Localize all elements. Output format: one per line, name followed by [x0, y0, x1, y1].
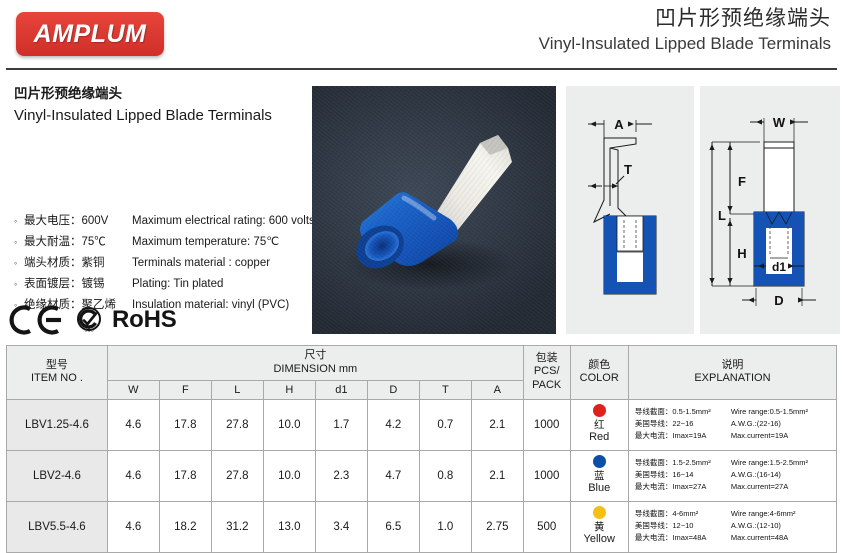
th-explanation: 说明 EXPLANATION — [628, 346, 836, 400]
th-pack: 包装 PCS/ PACK — [523, 346, 570, 400]
technical-drawing-front-view: F L H W d1 — [700, 86, 840, 334]
page-title-cn: 凹片形预绝缘端头 — [539, 6, 831, 32]
product-name-en: Vinyl-Insulated Lipped Blade Terminals — [14, 106, 304, 126]
product-name-block: 凹片形预绝缘端头 Vinyl-Insulated Lipped Blade Te… — [14, 84, 304, 127]
cell-item-no: LBV1.25-4.6 — [7, 399, 108, 450]
th-item-no-cn: 型号 — [9, 359, 105, 373]
cell-color: 黄 Yellow — [570, 501, 628, 552]
spec-label-cn: 最大耐温：75℃ — [24, 233, 132, 249]
cell-color: 红 Red — [570, 399, 628, 450]
cell-explanation: 导线截面：1.5-2.5mm² Wire range:1.5-2.5mm² 美国… — [628, 450, 836, 501]
spec-item-plating: ◦ 表面镀层：镀锡 Plating: Tin plated — [14, 275, 314, 291]
expl-awg-en: A.W.G.:(22-16) — [731, 419, 830, 430]
expl-max-current-cn: 最大电流：Imax=19A — [635, 431, 731, 442]
th-explanation-cn: 说明 — [631, 359, 834, 373]
photo-texture — [312, 86, 556, 334]
header-title-group: 凹片形预绝缘端头 Vinyl-Insulated Lipped Blade Te… — [539, 6, 831, 56]
label-A: A — [614, 117, 624, 132]
th-dimension-group: 尺寸 DIMENSION mm — [107, 346, 523, 381]
cell-d: 4.2 — [367, 399, 419, 450]
expl-wire-range-en: Wire range:1.5-2.5mm² — [731, 458, 830, 469]
front-view-diagram: F L H W d1 — [700, 86, 840, 334]
expl-max-current-en: Max.current=27A — [731, 482, 830, 493]
cell-item-no: LBV2-4.6 — [7, 450, 108, 501]
cell-d: 4.7 — [367, 450, 419, 501]
cell-a: 2.1 — [471, 450, 523, 501]
label-F: F — [738, 174, 746, 189]
table-body: LBV1.25-4.6 4.6 17.8 27.8 10.0 1.7 4.2 0… — [7, 399, 837, 552]
product-name-cn: 凹片形预绝缘端头 — [14, 84, 304, 104]
header-divider — [6, 68, 837, 70]
label-H: H — [737, 246, 746, 261]
color-swatch-icon — [593, 455, 606, 468]
expl-awg-cn: 美国导线：12~10 — [635, 521, 731, 532]
table-row: LBV1.25-4.6 4.6 17.8 27.8 10.0 1.7 4.2 0… — [7, 399, 837, 450]
spec-item-material: ◦ 端头材质：紫铜 Terminals material : copper — [14, 254, 314, 270]
th-item-no: 型号 ITEM NO . — [7, 346, 108, 400]
specification-table-wrapper: 型号 ITEM NO . 尺寸 DIMENSION mm 包装 PCS/ PAC… — [6, 345, 837, 553]
expl-max-current-en: Max.current=48A — [731, 533, 830, 544]
cell-f: 17.8 — [159, 399, 211, 450]
color-name-cn: 黄 — [572, 521, 627, 534]
cell-f: 17.8 — [159, 450, 211, 501]
table-row: LBV2-4.6 4.6 17.8 27.8 10.0 2.3 4.7 0.8 … — [7, 450, 837, 501]
cell-f: 18.2 — [159, 501, 211, 552]
cell-t: 0.8 — [419, 450, 471, 501]
color-swatch-icon — [593, 404, 606, 417]
th-dim-w: W — [107, 380, 159, 399]
cell-w: 4.6 — [107, 450, 159, 501]
th-dimension-cn: 尺寸 — [110, 349, 521, 363]
page-title-en: Vinyl-Insulated Lipped Blade Terminals — [539, 33, 831, 56]
table-head: 型号 ITEM NO . 尺寸 DIMENSION mm 包装 PCS/ PAC… — [7, 346, 837, 400]
th-color-en: COLOR — [573, 372, 626, 386]
th-dim-t: T — [419, 380, 471, 399]
label-D: D — [774, 293, 783, 308]
bullet-icon: ◦ — [14, 259, 24, 268]
color-name-cn: 蓝 — [572, 470, 627, 483]
rohs-label: RoHS — [112, 306, 177, 334]
ce-mark-icon — [8, 305, 66, 335]
th-dim-f: F — [159, 380, 211, 399]
cell-a: 2.1 — [471, 399, 523, 450]
specification-table: 型号 ITEM NO . 尺寸 DIMENSION mm 包装 PCS/ PAC… — [6, 345, 837, 553]
bullet-icon: ◦ — [14, 217, 24, 226]
product-photo — [312, 86, 556, 334]
th-pack-cn: 包装 — [526, 352, 568, 366]
explanation-grid: 导线截面：1.5-2.5mm² Wire range:1.5-2.5mm² 美国… — [635, 458, 830, 493]
cell-color: 蓝 Blue — [570, 450, 628, 501]
expl-wire-range-cn: 导线截面：1.5-2.5mm² — [635, 458, 731, 469]
table-header-row-1: 型号 ITEM NO . 尺寸 DIMENSION mm 包装 PCS/ PAC… — [7, 346, 837, 381]
color-name-en: Blue — [572, 482, 627, 496]
th-color-cn: 颜色 — [573, 359, 626, 373]
explanation-grid: 导线截面：4-6mm² Wire range:4-6mm² 美国导线：12~10… — [635, 509, 830, 544]
brand-logo: AMPLUM — [16, 12, 164, 56]
cell-h: 13.0 — [263, 501, 315, 552]
expl-awg-cn: 美国导线：16~14 — [635, 470, 731, 481]
cell-l: 27.8 — [211, 399, 263, 450]
expl-wire-range-cn: 导线截面：4-6mm² — [635, 509, 731, 520]
cell-l: 27.8 — [211, 450, 263, 501]
color-name-cn: 红 — [572, 419, 627, 432]
cell-h: 10.0 — [263, 450, 315, 501]
th-item-no-en: ITEM NO . — [9, 372, 105, 386]
sgs-logo-icon: SGS — [75, 306, 103, 334]
bullet-icon: ◦ — [14, 280, 24, 289]
spec-label-en: Terminals material : copper — [132, 257, 270, 269]
cell-a: 2.75 — [471, 501, 523, 552]
cell-pack: 1000 — [523, 450, 570, 501]
expl-max-current-cn: 最大电流：Imax=27A — [635, 482, 731, 493]
th-pack-en2: PACK — [526, 379, 568, 393]
expl-wire-range-en: Wire range:4-6mm² — [731, 509, 830, 520]
spec-label-cn: 表面镀层：镀锡 — [24, 275, 132, 291]
page-header: AMPLUM 凹片形预绝缘端头 Vinyl-Insulated Lipped B… — [0, 0, 843, 70]
label-d1: d1 — [772, 260, 786, 274]
expl-awg-en: A.W.G.:(12-10) — [731, 521, 830, 532]
cell-pack: 500 — [523, 501, 570, 552]
brand-logo-text: AMPLUM — [34, 20, 147, 49]
explanation-grid: 导线截面：0.5-1.5mm² Wire range:0.5-1.5mm² 美国… — [635, 407, 830, 442]
cell-d1: 2.3 — [315, 450, 367, 501]
spec-label-cn: 最大电压：600V — [24, 212, 132, 228]
th-dim-h: H — [263, 380, 315, 399]
expl-max-current-cn: 最大电流：Imax=48A — [635, 533, 731, 544]
color-swatch-icon — [593, 506, 606, 519]
th-dim-d: D — [367, 380, 419, 399]
th-dim-a: A — [471, 380, 523, 399]
cell-w: 4.6 — [107, 501, 159, 552]
cell-l: 31.2 — [211, 501, 263, 552]
cell-t: 0.7 — [419, 399, 471, 450]
cell-t: 1.0 — [419, 501, 471, 552]
cell-d1: 3.4 — [315, 501, 367, 552]
cell-h: 10.0 — [263, 399, 315, 450]
color-name-en: Red — [572, 431, 627, 445]
table-row: LBV5.5-4.6 4.6 18.2 31.2 13.0 3.4 6.5 1.… — [7, 501, 837, 552]
label-W: W — [773, 115, 786, 130]
spec-label-en: Plating: Tin plated — [132, 278, 223, 290]
th-dimension-en: DIMENSION mm — [110, 363, 521, 377]
th-dim-d1: d1 — [315, 380, 367, 399]
expl-max-current-en: Max.current=19A — [731, 431, 830, 442]
cell-w: 4.6 — [107, 399, 159, 450]
cell-item-no: LBV5.5-4.6 — [7, 501, 108, 552]
th-color: 颜色 COLOR — [570, 346, 628, 400]
cell-explanation: 导线截面：0.5-1.5mm² Wire range:0.5-1.5mm² 美国… — [628, 399, 836, 450]
expl-wire-range-cn: 导线截面：0.5-1.5mm² — [635, 407, 731, 418]
label-T: T — [624, 162, 632, 177]
spec-label-en: Maximum temperature: 75℃ — [132, 234, 279, 248]
spec-label-en: Maximum electrical rating: 600 volts — [132, 215, 315, 227]
spec-label-cn: 端头材质：紫铜 — [24, 254, 132, 270]
cell-pack: 1000 — [523, 399, 570, 450]
side-view-diagram: A T — [566, 86, 694, 334]
technical-drawing-side-view: A T — [566, 86, 694, 334]
expl-awg-cn: 美国导线：22~16 — [635, 419, 731, 430]
expl-awg-en: A.W.G.:(16-14) — [731, 470, 830, 481]
spec-item-temperature: ◦ 最大耐温：75℃ Maximum temperature: 75℃ — [14, 233, 314, 249]
th-explanation-en: EXPLANATION — [631, 372, 834, 386]
color-name-en: Yellow — [572, 533, 627, 547]
certification-marks: SGS RoHS — [8, 305, 177, 335]
svg-text:SGS: SGS — [84, 328, 93, 333]
spec-item-voltage: ◦ 最大电压：600V Maximum electrical rating: 6… — [14, 212, 314, 228]
expl-wire-range-en: Wire range:0.5-1.5mm² — [731, 407, 830, 418]
specification-list: ◦ 最大电压：600V Maximum electrical rating: 6… — [14, 212, 314, 317]
th-pack-en1: PCS/ — [526, 365, 568, 379]
cell-d: 6.5 — [367, 501, 419, 552]
label-L: L — [718, 208, 726, 223]
bullet-icon: ◦ — [14, 238, 24, 247]
cell-d1: 1.7 — [315, 399, 367, 450]
cell-explanation: 导线截面：4-6mm² Wire range:4-6mm² 美国导线：12~10… — [628, 501, 836, 552]
th-dim-l: L — [211, 380, 263, 399]
